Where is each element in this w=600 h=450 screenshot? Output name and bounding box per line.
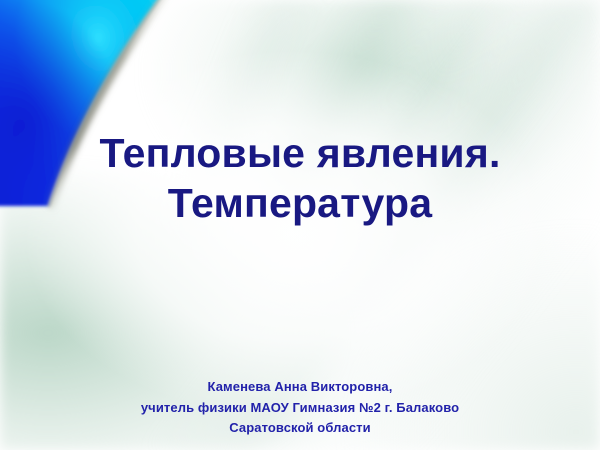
slide-author-credits: Каменева Анна Викторовна, учитель физики… [0, 377, 600, 439]
author-region: Саратовской области [0, 418, 600, 439]
title-line-2: Температура [0, 178, 600, 228]
author-name: Каменева Анна Викторовна, [0, 377, 600, 398]
author-affiliation: учитель физики МАОУ Гимназия №2 г. Балак… [0, 398, 600, 419]
presentation-slide: Тепловые явления. Температура Каменева А… [0, 0, 600, 450]
slide-title: Тепловые явления. Температура [0, 128, 600, 228]
title-line-1: Тепловые явления. [0, 128, 600, 178]
